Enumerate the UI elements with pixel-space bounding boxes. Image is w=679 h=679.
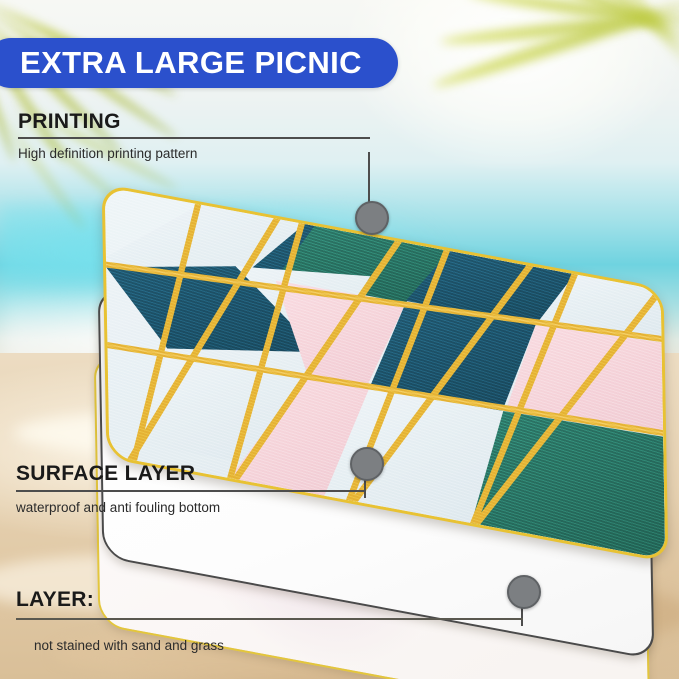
callout-layer-title: LAYER: bbox=[16, 588, 523, 612]
callout-dot-printing[interactable] bbox=[355, 201, 389, 235]
callout-printing-subtitle: High definition printing pattern bbox=[18, 146, 370, 161]
callout-printing: PRINTING High definition printing patter… bbox=[18, 110, 370, 161]
callout-surface-layer-subtitle: waterproof and anti fouling bottom bbox=[16, 500, 366, 515]
infographic-canvas: EXTRA LARGE PICNIC PRINTING High definit… bbox=[0, 0, 679, 679]
callout-surface-layer-title: SURFACE LAYER bbox=[16, 462, 366, 486]
callout-layer-rule bbox=[16, 618, 523, 620]
callout-printing-rule bbox=[18, 137, 370, 139]
callout-surface-layer-rule bbox=[16, 490, 366, 492]
callout-layer: LAYER: not stained with sand and grass bbox=[16, 588, 523, 653]
callout-layer-subtitle: not stained with sand and grass bbox=[34, 638, 523, 653]
callout-printing-title: PRINTING bbox=[18, 110, 370, 134]
callout-surface-layer: SURFACE LAYER waterproof and anti foulin… bbox=[16, 462, 366, 515]
banner-extra-large-picnic: EXTRA LARGE PICNIC bbox=[0, 38, 398, 88]
banner-title: EXTRA LARGE PICNIC bbox=[0, 45, 362, 81]
